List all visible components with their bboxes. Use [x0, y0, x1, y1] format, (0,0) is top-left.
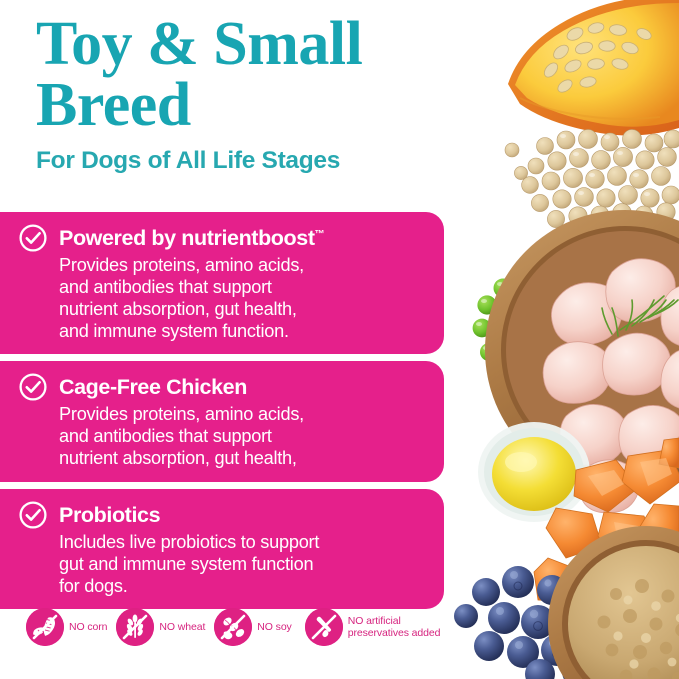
- benefit-card-header: Probiotics: [18, 500, 428, 530]
- benefit-card-list: Powered by nutrientboost™ Provides prote…: [0, 212, 444, 616]
- page-subtitle: For Dogs of All Life Stages: [36, 148, 506, 175]
- blueberries: [454, 566, 619, 679]
- sweet-potato-chunks: [534, 438, 679, 610]
- no-soy-icon: [214, 608, 252, 646]
- benefit-card-title-text: Cage-Free Chicken: [59, 375, 247, 399]
- benefit-card-body: Provides proteins, amino acids, and anti…: [59, 255, 428, 342]
- check-circle-icon: [18, 500, 48, 530]
- benefit-card-title-text: Powered by nutrientboost: [59, 226, 315, 250]
- claim-badge-label: NO soy: [257, 621, 291, 633]
- pumpkin-slice: [508, 0, 679, 136]
- no-corn-icon: [26, 608, 64, 646]
- benefit-card: Probiotics Includes live probiotics to s…: [0, 489, 444, 610]
- benefit-card-body: Includes live probiotics to support gut …: [59, 532, 428, 598]
- check-circle-icon: [18, 223, 48, 253]
- claim-badge-label: NO corn: [69, 621, 107, 633]
- wooden-bowl-raw-chicken: [485, 210, 679, 513]
- product-feature-panel: Toy & Small Breed For Dogs of All Life S…: [0, 0, 679, 679]
- claim-badge-no-soy: NO soy: [214, 608, 291, 646]
- benefit-card-title: Powered by nutrientboost™: [59, 227, 325, 250]
- claim-badge-label: NO wheat: [159, 621, 205, 633]
- title-line-2: Breed: [36, 75, 506, 136]
- page-title: Toy & Small Breed: [36, 14, 506, 136]
- no-wheat-icon: [116, 608, 154, 646]
- oil-bowl: [478, 422, 590, 522]
- benefit-card: Cage-Free Chicken Provides proteins, ami…: [0, 361, 444, 482]
- title-line-1: Toy & Small: [36, 10, 362, 78]
- benefit-card-header: Cage-Free Chicken: [18, 372, 428, 402]
- claim-badge-no-preservatives: NO artificial preservatives added: [305, 608, 441, 646]
- benefit-card-title-text: Probiotics: [59, 503, 160, 527]
- benefit-card-title: Cage-Free Chicken: [59, 376, 247, 399]
- no-preservatives-icon: [305, 608, 343, 646]
- claim-badge-no-wheat: NO wheat: [116, 608, 205, 646]
- benefit-card-header: Powered by nutrientboost™: [18, 223, 428, 253]
- chickpeas: [505, 130, 679, 241]
- benefit-card-title: Probiotics: [59, 504, 160, 527]
- benefit-card: Powered by nutrientboost™ Provides prote…: [0, 212, 444, 354]
- green-peas: [473, 268, 554, 452]
- claim-badge-label: NO artificial preservatives added: [348, 615, 441, 639]
- claim-badge-no-corn: NO corn: [26, 608, 107, 646]
- headline-block: Toy & Small Breed For Dogs of All Life S…: [36, 14, 506, 174]
- ground-meal-bowl: [548, 526, 679, 679]
- trademark-symbol: ™: [315, 229, 325, 240]
- check-circle-icon: [18, 372, 48, 402]
- benefit-card-body: Provides proteins, amino acids, and anti…: [59, 404, 428, 470]
- claim-badge-row: NO corn: [26, 608, 440, 646]
- dill-sprig: [602, 296, 678, 336]
